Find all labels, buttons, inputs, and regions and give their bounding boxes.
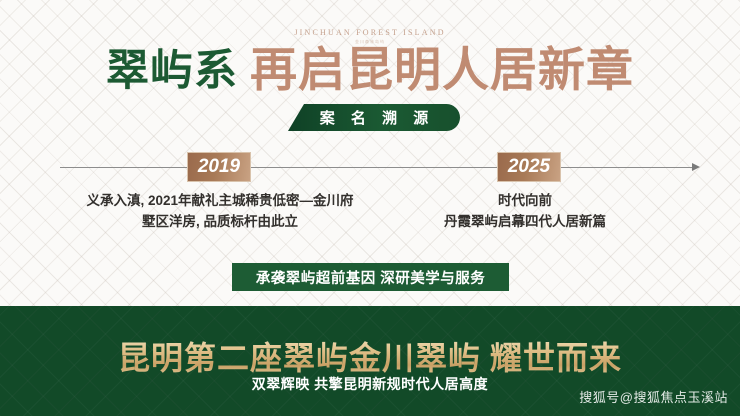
timeline-arrow-icon: [692, 163, 700, 171]
page-title: 翠屿系再启昆明人居新章: [0, 48, 740, 95]
gene-bar-label: 承袭翠屿超前基因 深研美学与服务: [256, 267, 486, 288]
timeline-event-description-2025: 时代向前 丹霞翠屿启幕四代人居新篇: [370, 190, 680, 232]
bottom-green-panel: 昆明第二座翠屿金川翠屿 耀世而来 双翠辉映 共擎昆明新规时代人居高度 搜狐号@搜…: [0, 306, 740, 416]
headline-series-name: 翠屿系: [106, 48, 238, 95]
event-line-1: 时代向前: [370, 190, 680, 211]
timeline-year-badge-2019: 2019: [187, 152, 251, 182]
timeline-year-badge-2025: 2025: [497, 152, 561, 182]
event-line-2: 丹霞翠屿启幕四代人居新篇: [370, 211, 680, 232]
origin-banner-label: 案 名 溯 源: [314, 107, 435, 128]
brand-eyebrow-text: JINCHUAN FOREST ISLAND: [0, 28, 740, 37]
source-watermark: 搜狐号@搜狐焦点玉溪站: [579, 387, 728, 406]
headline-main-phrase: 再启昆明人居新章: [250, 45, 634, 97]
timeline-axis-line: [60, 167, 696, 168]
event-line-1: 义承入滇, 2021年献礼主城稀贵低密—金川府: [40, 190, 400, 211]
origin-section-banner: 案 名 溯 源: [288, 104, 460, 131]
gene-highlight-bar: 承袭翠屿超前基因 深研美学与服务: [232, 263, 509, 291]
year-label: 2025: [508, 156, 550, 178]
year-label: 2019: [198, 156, 240, 178]
poster-canvas: JINCHUAN FOREST ISLAND 金川森林岛屿 翠屿系再启昆明人居新…: [0, 0, 740, 416]
timeline-event-description-2019: 义承入滇, 2021年献礼主城稀贵低密—金川府 墅区洋房, 品质标杆由此立: [40, 190, 400, 232]
event-line-2: 墅区洋房, 品质标杆由此立: [40, 211, 400, 232]
bottom-panel-title: 昆明第二座翠屿金川翠屿 耀世而来: [0, 333, 740, 379]
